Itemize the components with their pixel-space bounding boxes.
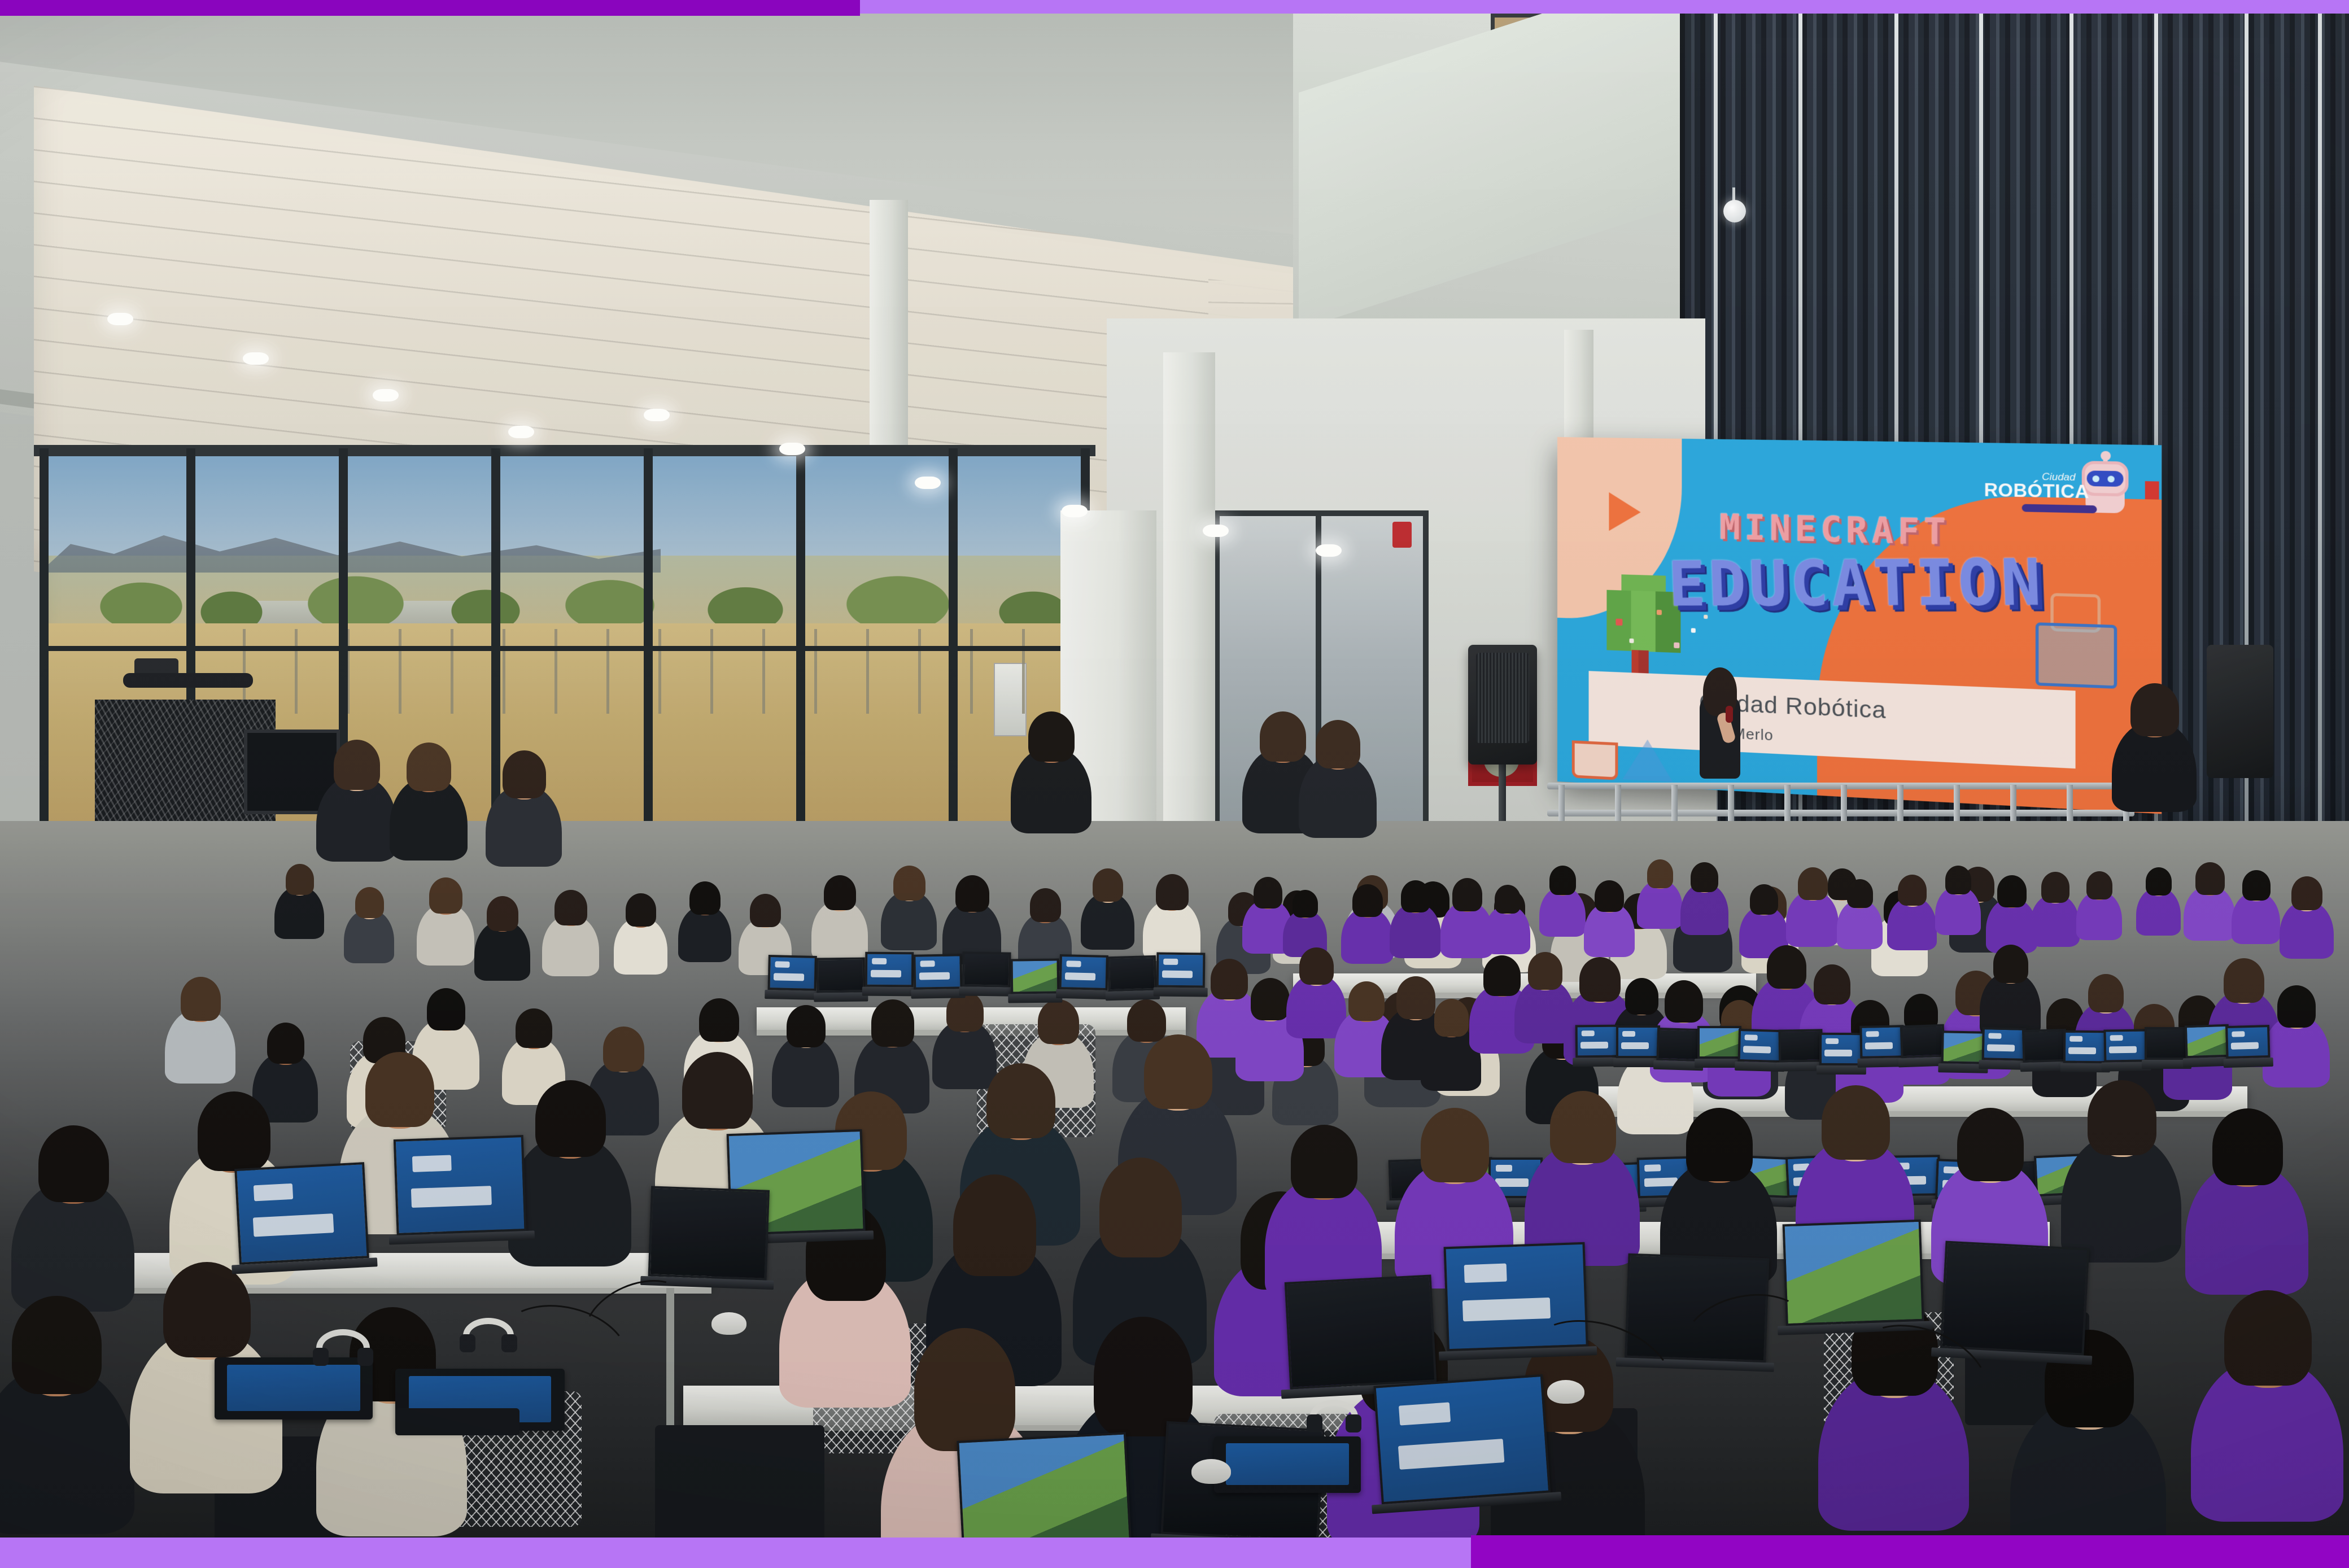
person-hair	[429, 877, 462, 914]
person-hair	[12, 1296, 102, 1394]
person-hair	[1030, 888, 1061, 922]
laptop-ui-tile-b	[2231, 1042, 2259, 1050]
person-mid-right-23	[2263, 983, 2330, 1086]
person-hair	[1665, 980, 1703, 1023]
fence-post-2	[295, 629, 298, 714]
laptop-screen	[1697, 1026, 1741, 1059]
person-backpurple-8	[1637, 858, 1682, 927]
screen-red-mark-top	[2145, 481, 2159, 500]
person-back-8	[811, 873, 868, 960]
laptop-ui-tile-a	[1744, 1035, 1758, 1041]
person-hair-back	[953, 1174, 1036, 1276]
person-hair	[2242, 870, 2270, 901]
person-hair	[427, 988, 465, 1030]
student-laptop-br-6[interactable]	[1819, 1033, 1863, 1076]
laptop-ui-tile-b	[919, 972, 950, 980]
person-hair	[334, 740, 380, 790]
fire-alarm-icon	[1392, 522, 1412, 548]
person-hair	[2291, 876, 2322, 910]
laptop-ui-tile-b	[411, 1186, 492, 1208]
person-hair	[1251, 978, 1290, 1021]
person-backpurple-19	[2184, 861, 2235, 940]
downlight-7	[915, 477, 941, 489]
person-backpurple-21	[2280, 874, 2334, 957]
person-hair	[626, 893, 656, 927]
laptop-screen	[2022, 1029, 2067, 1063]
person-hair	[1421, 1108, 1488, 1182]
power-strip[interactable]	[395, 1408, 519, 1435]
person-backpurple-5	[1485, 883, 1530, 953]
person-back-10	[942, 872, 1001, 963]
person-hair-back	[1094, 1317, 1193, 1437]
laptop-ui-tile-a	[1826, 1039, 1839, 1045]
black-plastic-chair-1	[655, 1425, 824, 1538]
person-hair	[2224, 1290, 2312, 1386]
person-hair	[1038, 999, 1079, 1044]
person-back-0	[274, 862, 324, 938]
student-laptop-br-8[interactable]	[1900, 1024, 1946, 1069]
person-hair	[1028, 711, 1075, 762]
ciudad-robotica-logo: Ciudad ROBÓTICA	[2020, 454, 2133, 519]
person-hair	[1434, 999, 1469, 1037]
student-laptop-front-4[interactable]	[1285, 1274, 1438, 1399]
person-backpurple-7	[1584, 878, 1635, 956]
outdoor-sky	[40, 454, 1090, 556]
person-backpurple-2	[1341, 882, 1394, 963]
laptop-screen	[1373, 1374, 1551, 1504]
person-hair	[2146, 867, 2171, 896]
laptop-ui-tile-a	[1066, 961, 1081, 967]
fence-post-10	[710, 629, 713, 714]
laptop-ui-tile-a	[920, 961, 935, 967]
laptop-base	[911, 989, 966, 999]
fence-post-7	[554, 629, 557, 714]
fence-post-12	[814, 629, 817, 714]
border-bottom-light	[0, 1538, 1471, 1568]
person-hair	[487, 896, 519, 931]
fence-post-4	[399, 629, 401, 714]
person-back-3	[474, 894, 530, 979]
window-mullion-6	[796, 448, 805, 877]
headphones-0[interactable]	[316, 1329, 370, 1367]
person-hair	[1093, 868, 1123, 902]
person-hair	[365, 1052, 434, 1127]
fence-post-8	[606, 629, 609, 714]
fence-post-16	[1022, 629, 1025, 714]
person-hair	[1595, 880, 1624, 912]
laptop-screen	[1940, 1241, 2090, 1355]
student-laptop-br-16[interactable]	[2225, 1025, 2271, 1069]
person-standing-adult-2	[486, 748, 562, 864]
person-hair	[1144, 1034, 1212, 1109]
downlight-8	[1062, 505, 1088, 517]
headphone-cup-right	[1346, 1414, 1361, 1432]
led-presentation-screen[interactable]: MINECRAFT EDUCATION Ciudad Robótica Merl…	[1557, 437, 2162, 814]
pa-speaker-grille	[1476, 653, 1529, 743]
person-hair	[1316, 720, 1360, 768]
person-hair	[689, 881, 720, 915]
laptop-ui-tile-b	[1865, 1042, 1893, 1050]
person-hair	[1293, 890, 1318, 918]
person-hair	[2130, 683, 2179, 736]
person-hair	[986, 1063, 1055, 1138]
window-mullion-1	[40, 448, 49, 877]
student-laptop-bl-5[interactable]	[1011, 959, 1060, 1004]
person-hair-back	[914, 1328, 1015, 1451]
slide-dot-1	[1629, 639, 1634, 643]
laptop-ui-tile-b	[1162, 971, 1192, 978]
person-hair-back	[1099, 1158, 1181, 1257]
laptop-ui-tile-a	[872, 958, 887, 964]
laptop-screen	[1941, 1030, 1986, 1064]
logo-underline-bar	[2022, 504, 2097, 514]
person-back-6	[678, 879, 731, 961]
laptop-base	[1056, 989, 1111, 999]
headphone-cup-left	[460, 1334, 475, 1352]
person-hair	[2041, 872, 2069, 903]
fence-post-5	[451, 629, 453, 714]
student-laptop-br-12[interactable]	[2063, 1030, 2108, 1074]
mouse-0[interactable]	[1191, 1459, 1231, 1484]
laptop-base	[814, 992, 868, 1002]
downlight-10	[1316, 544, 1342, 557]
person-hair	[2277, 985, 2316, 1028]
border-bottom-dark	[1471, 1535, 2349, 1568]
person-hair	[1798, 867, 1828, 900]
person-backpurple-6	[1539, 864, 1586, 936]
student-laptop-bl-0[interactable]	[767, 955, 817, 1001]
slide-dot-2	[1674, 643, 1679, 649]
person-front-right-6	[2061, 1075, 2181, 1260]
person-hair	[503, 750, 546, 798]
person-hair	[2224, 958, 2265, 1003]
person-backpurple-3	[1390, 878, 1441, 956]
person-front-left-0	[11, 1120, 134, 1309]
laptop-ui-tile-a	[1866, 1031, 1879, 1037]
laptop-ui-tile-a	[2069, 1036, 2082, 1042]
laptop-screen	[648, 1186, 770, 1280]
laptop-base	[2224, 1058, 2273, 1068]
person-front-right-7	[2185, 1103, 2308, 1292]
laptop-screen	[234, 1162, 369, 1265]
person-hair	[1957, 1108, 2024, 1181]
student-laptop-front-9[interactable]	[1373, 1374, 1551, 1514]
laptop-screen	[962, 951, 1011, 987]
student-laptop-bl-8[interactable]	[1156, 953, 1206, 998]
laptop-ui-tile-a	[1988, 1033, 2002, 1038]
laptop-screen	[1011, 959, 1060, 994]
event-photograph: MINECRAFT EDUCATION Ciudad Robótica Merl…	[0, 14, 2349, 1538]
slide-dot-4	[1657, 610, 1662, 615]
laptop-ui-tile-a	[2110, 1035, 2123, 1041]
person-standing-adult-1	[390, 739, 468, 859]
laptop-screen	[1616, 1025, 1660, 1058]
person-hair	[1401, 880, 1430, 912]
person-hair	[1647, 859, 1673, 888]
person-hair	[1156, 874, 1189, 910]
person-hair	[1528, 952, 1562, 990]
laptop-screen	[1982, 1027, 2027, 1061]
downlight-2	[243, 352, 269, 365]
person-hair	[1452, 878, 1483, 911]
downlight-5	[644, 409, 670, 421]
laptop-base	[1105, 990, 1160, 1001]
laptop-ui-tile-b	[1743, 1046, 1771, 1053]
downlight-4	[508, 426, 534, 438]
flat-laptop-screen	[227, 1365, 360, 1410]
laptop-screen	[2145, 1027, 2189, 1060]
person-standing-adult-3	[1011, 708, 1091, 832]
person-hair	[1945, 866, 1971, 894]
fence-post-9	[658, 629, 661, 714]
headphone-cup-left	[1307, 1414, 1322, 1432]
fence-post-11	[762, 629, 765, 714]
person-hair	[1495, 885, 1521, 914]
person-hair	[699, 998, 739, 1042]
laptop-screen	[1107, 955, 1157, 992]
person-hair	[516, 1008, 552, 1048]
person-hair	[2212, 1108, 2283, 1185]
laptop-ui-tile-b	[774, 973, 804, 981]
laptop-screen	[1575, 1025, 1620, 1058]
person-hair	[198, 1091, 270, 1171]
person-hair	[1686, 1108, 1753, 1181]
person-hair	[1291, 1125, 1358, 1198]
student-laptop-front-1[interactable]	[394, 1135, 527, 1246]
person-backpurple-20	[2232, 868, 2280, 943]
person-front-right-2	[1525, 1086, 1640, 1263]
person-backpurple-17	[2076, 869, 2121, 938]
person-back-4	[542, 888, 599, 975]
person-hair	[1348, 981, 1385, 1021]
laptop-ui-tile-a	[254, 1183, 293, 1201]
person-hair	[1254, 877, 1283, 909]
person-hair	[1997, 875, 2027, 907]
person-front-right-0	[1265, 1120, 1382, 1299]
person-hair	[1847, 879, 1874, 908]
laptop-screen	[2225, 1025, 2271, 1059]
laptop-ui-tile-b	[871, 970, 901, 977]
fence-post-13	[866, 629, 869, 714]
laptop-ui-tile-b	[1824, 1050, 1852, 1057]
logo-word-robotica: ROBÓTICA	[1984, 479, 2089, 503]
person-hair	[407, 742, 451, 791]
person-hair	[750, 894, 780, 927]
laptop-ui-tile-a	[1622, 1031, 1635, 1037]
person-back-13	[1143, 872, 1200, 960]
window-mullion-5	[644, 448, 653, 877]
laptop-ui-tile-a	[1163, 959, 1178, 965]
laptop-ui-tile-b	[2068, 1047, 2095, 1054]
person-hair	[1549, 866, 1576, 895]
fence-post-6	[503, 629, 505, 714]
triangle-play-icon	[1609, 492, 1640, 532]
flat-laptop-screen	[1226, 1443, 1349, 1485]
robot-eye-right-icon	[2107, 475, 2114, 482]
person-hair	[955, 875, 989, 912]
fence-post-14	[918, 629, 921, 714]
person-hair	[286, 864, 314, 895]
person-mid-left-0	[165, 974, 235, 1081]
headphone-cup-right	[357, 1348, 373, 1366]
person-backpurple-11	[1786, 865, 1839, 946]
person-hair	[682, 1052, 753, 1129]
laptop-ui-tile-b	[1987, 1044, 2015, 1051]
person-hair	[2195, 862, 2225, 894]
robot-eye-left-icon	[2093, 475, 2099, 482]
person-hair	[267, 1023, 305, 1064]
laptop-ui-tile-b	[1580, 1042, 1608, 1049]
person-backpurple-18	[2136, 866, 2181, 934]
person-hair	[787, 1005, 825, 1047]
laptop-ui-tile-b	[2109, 1046, 2137, 1053]
handheld-microphone-icon	[1726, 706, 1733, 723]
mouse-1[interactable]	[711, 1312, 746, 1335]
person-hair	[163, 1262, 251, 1357]
person-hair	[1550, 1091, 1616, 1163]
person-back-12	[1081, 866, 1134, 948]
laptop-base	[959, 986, 1014, 996]
laptop-base	[1008, 994, 1062, 1003]
laptop-screen	[1778, 1029, 1823, 1063]
person-back-1	[344, 885, 394, 962]
round-wall-lamp-icon	[1723, 200, 1746, 222]
downlight-9	[1203, 525, 1229, 537]
student-laptop-br-7[interactable]	[1859, 1025, 1904, 1068]
laptop-ui-tile-a	[2232, 1032, 2245, 1037]
person-hair	[355, 887, 384, 919]
laptop-screen	[1900, 1024, 1945, 1059]
student-laptop-front-3[interactable]	[648, 1186, 770, 1290]
laptop-screen	[2103, 1029, 2148, 1062]
person-backpurple-14	[1935, 864, 1981, 934]
student-laptop-bl-6[interactable]	[1059, 954, 1108, 1001]
person-foreground-left-1	[0, 1290, 134, 1530]
person-hair	[1993, 945, 2028, 983]
laptop-ui-tile-a	[412, 1155, 452, 1172]
laptop-base	[1153, 988, 1207, 997]
person-hair	[871, 999, 914, 1046]
laptop-screen	[957, 1432, 1132, 1538]
structural-column-2	[1163, 352, 1215, 889]
downlight-3	[373, 389, 399, 401]
person-backpurple-9	[1680, 860, 1728, 934]
screen-surface: MINECRAFT EDUCATION Ciudad Robótica Merl…	[1557, 437, 2162, 814]
student-laptop-br-10[interactable]	[1981, 1027, 2027, 1071]
laptop-ui-tile-b	[1462, 1298, 1551, 1321]
person-hair	[1691, 862, 1718, 893]
student-laptop-front-10[interactable]	[957, 1432, 1133, 1538]
laptop-screen	[1285, 1274, 1437, 1389]
person-backpurple-12	[1837, 877, 1883, 948]
student-laptop-br-14[interactable]	[2145, 1027, 2189, 1070]
person-standing-adult-6	[2112, 680, 2197, 810]
laptop-screen	[2185, 1024, 2230, 1058]
slide-dot-0	[1616, 619, 1622, 626]
person-hair	[893, 866, 925, 901]
student-laptop-bl-2[interactable]	[865, 952, 914, 998]
border-top-dark	[0, 0, 860, 16]
slide-dot-5	[1704, 615, 1708, 619]
laptop-ui-tile-a	[775, 962, 789, 968]
student-laptop-bl-3[interactable]	[913, 954, 962, 1000]
person-hair	[2086, 871, 2112, 899]
speech-bubble-icon	[2036, 622, 2117, 689]
person-back-2	[417, 875, 475, 964]
laptop-ui-tile-a	[1645, 1165, 1661, 1172]
person-hair	[181, 977, 221, 1021]
laptop-ui-tile-a	[1399, 1402, 1451, 1426]
laptop-ui-tile-a	[1582, 1030, 1595, 1036]
laptop-base	[765, 990, 819, 1000]
downlight-1	[107, 313, 133, 325]
panel-mount-arm	[123, 673, 253, 688]
person-hair	[1822, 1085, 1889, 1160]
laptop-screen	[1656, 1028, 1701, 1062]
laptop-ui-tile-a	[1464, 1264, 1507, 1283]
pencil-icon	[1622, 739, 1673, 782]
person-hair	[1750, 884, 1778, 915]
headphones-2[interactable]	[1310, 1400, 1358, 1434]
slat-highlight-8	[2318, 14, 2322, 894]
person-hair	[1898, 875, 1926, 906]
person-standing-adult-5	[1299, 717, 1377, 836]
person-back-5	[614, 891, 667, 973]
person-foreground-right-5	[2191, 1284, 2343, 1518]
laptop-screen	[1783, 1220, 1924, 1326]
screen-title-education: EDUCATION	[1667, 545, 2046, 620]
student-laptop-bl-4[interactable]	[962, 951, 1011, 997]
laptop-screen	[1859, 1025, 1904, 1058]
person-hair	[38, 1125, 109, 1202]
pa-speaker-right	[2207, 645, 2273, 778]
window-mullion-7	[949, 448, 958, 877]
person-hair	[535, 1080, 606, 1157]
flat-laptop-0[interactable]	[215, 1357, 373, 1420]
laptop-screen	[817, 957, 866, 993]
fence-post-15	[970, 629, 973, 714]
flat-laptop-2[interactable]	[1214, 1436, 1361, 1493]
student-laptop-bl-1[interactable]	[817, 957, 866, 1003]
laptop-ui-tile-b	[1065, 973, 1095, 981]
cup-icon	[1572, 740, 1618, 780]
border-top-light	[860, 0, 2349, 14]
laptop-screen	[394, 1135, 527, 1235]
window-transom	[40, 646, 1090, 651]
person-back-9	[881, 863, 937, 949]
slide-dot-3	[1691, 628, 1696, 632]
person-standing-adult-0	[316, 736, 397, 860]
person-hair	[603, 1027, 644, 1071]
downlight-6	[779, 443, 805, 455]
person-hair	[1352, 884, 1383, 918]
laptop-ui-tile-b	[1621, 1042, 1648, 1049]
person-hair	[1299, 947, 1334, 985]
student-laptop-front-0[interactable]	[234, 1162, 370, 1275]
person-backpurple-16	[2030, 870, 2080, 946]
laptop-base	[862, 987, 916, 997]
headphone-cup-left	[313, 1348, 329, 1366]
person-backpurple-13	[1887, 873, 1937, 949]
person-hair	[554, 890, 587, 925]
student-laptop-bl-7[interactable]	[1107, 955, 1157, 1002]
screenshot-root: MINECRAFT EDUCATION Ciudad Robótica Merl…	[0, 0, 2349, 1568]
person-hair	[824, 875, 856, 911]
person-hair	[2088, 1080, 2156, 1155]
